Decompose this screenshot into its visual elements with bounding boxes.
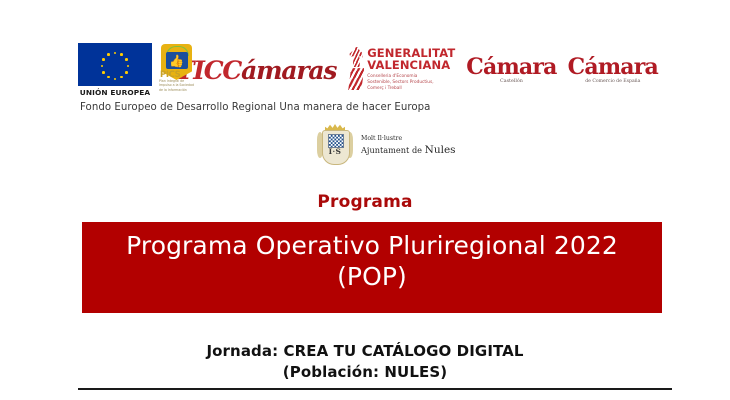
nules-line-1: Molt Il·lustre xyxy=(361,135,456,142)
nules-line-2: Ajuntament de Nules xyxy=(361,143,456,157)
ticcamaras-initial-c: C xyxy=(222,58,241,83)
camara-espana-rest: ámara xyxy=(584,54,658,80)
bottom-divider xyxy=(78,388,672,390)
ticcamaras-amaras: ámaras xyxy=(241,56,336,85)
generalitat-line-2: VALENCIANA xyxy=(367,60,455,72)
senyera-emblem-icon xyxy=(348,47,364,91)
feder-tagline: Fondo Europeo de Desarrollo Regional Una… xyxy=(80,102,430,113)
camara-castellon-subtitle: Castellón xyxy=(500,80,523,85)
nules-line-2-prefix: Ajuntament de xyxy=(361,145,425,155)
camara-castellon-wordmark: Cámara xyxy=(466,56,556,78)
nules-text-block: Molt Il·lustre Ajuntament de Nules xyxy=(361,135,456,157)
logo-strip: UNIÓN EUROPEA 👍 PICS Plan Integral de Im… xyxy=(78,44,658,96)
european-union-flag-icon xyxy=(78,43,152,86)
eu-stars-circle xyxy=(102,52,128,78)
nules-coat-of-arms-icon: I·S xyxy=(316,124,354,168)
generalitat-sub-3: Comerç i Treball xyxy=(367,86,455,92)
jornada-title: Jornada: CREA TU CATÁLOGO DIGITAL (Pobla… xyxy=(0,341,730,384)
generalitat-valenciana-logo: GENERALITAT VALENCIANA Conselleria d'Eco… xyxy=(348,47,455,93)
camara-castellon-logo: Cámara Castellón xyxy=(466,56,556,85)
crest-checker-field xyxy=(328,134,344,148)
european-union-logo: UNIÓN EUROPEA xyxy=(78,43,152,97)
document-page: UNIÓN EUROPEA 👍 PICS Plan Integral de Im… xyxy=(0,0,730,400)
european-union-caption: UNIÓN EUROPEA xyxy=(80,88,151,97)
programa-operativo-banner: Programa Operativo Pluriregional 2022 (P… xyxy=(82,222,662,313)
pics-blue-box: 👍 xyxy=(166,52,188,69)
camara-castellon-rest: ámara xyxy=(483,54,557,80)
camara-espana-initial: C xyxy=(568,56,585,78)
programa-heading: Programa xyxy=(0,192,730,212)
camara-espana-wordmark: Cámara xyxy=(568,56,658,78)
nules-town-name: Nules xyxy=(425,144,456,156)
camara-de-espana-logo: Cámara de Comercio de España xyxy=(568,56,658,85)
generalitat-text-block: GENERALITAT VALENCIANA Conselleria d'Eco… xyxy=(367,47,455,93)
camara-espana-subtitle: de Comercio de España xyxy=(585,80,640,85)
ajuntament-de-nules-logo: I·S Molt Il·lustre Ajuntament de Nules xyxy=(316,124,456,168)
pics-subtitle: Plan Integral de Impulso a la Sociedad d… xyxy=(159,79,197,92)
banner-title: Programa Operativo Pluriregional 2022 (P… xyxy=(126,222,618,292)
thumbs-up-icon: 👍 xyxy=(169,55,184,67)
ticcamaras-logo: TICCámaras xyxy=(176,58,336,83)
senyera-figure-shape xyxy=(349,47,363,67)
senyera-bars-shape xyxy=(348,68,364,90)
crest-letters: I·S xyxy=(325,147,345,156)
pics-logo: 👍 PICS Plan Integral de Impulso a la Soc… xyxy=(157,44,168,92)
camara-castellon-initial: C xyxy=(466,56,483,78)
